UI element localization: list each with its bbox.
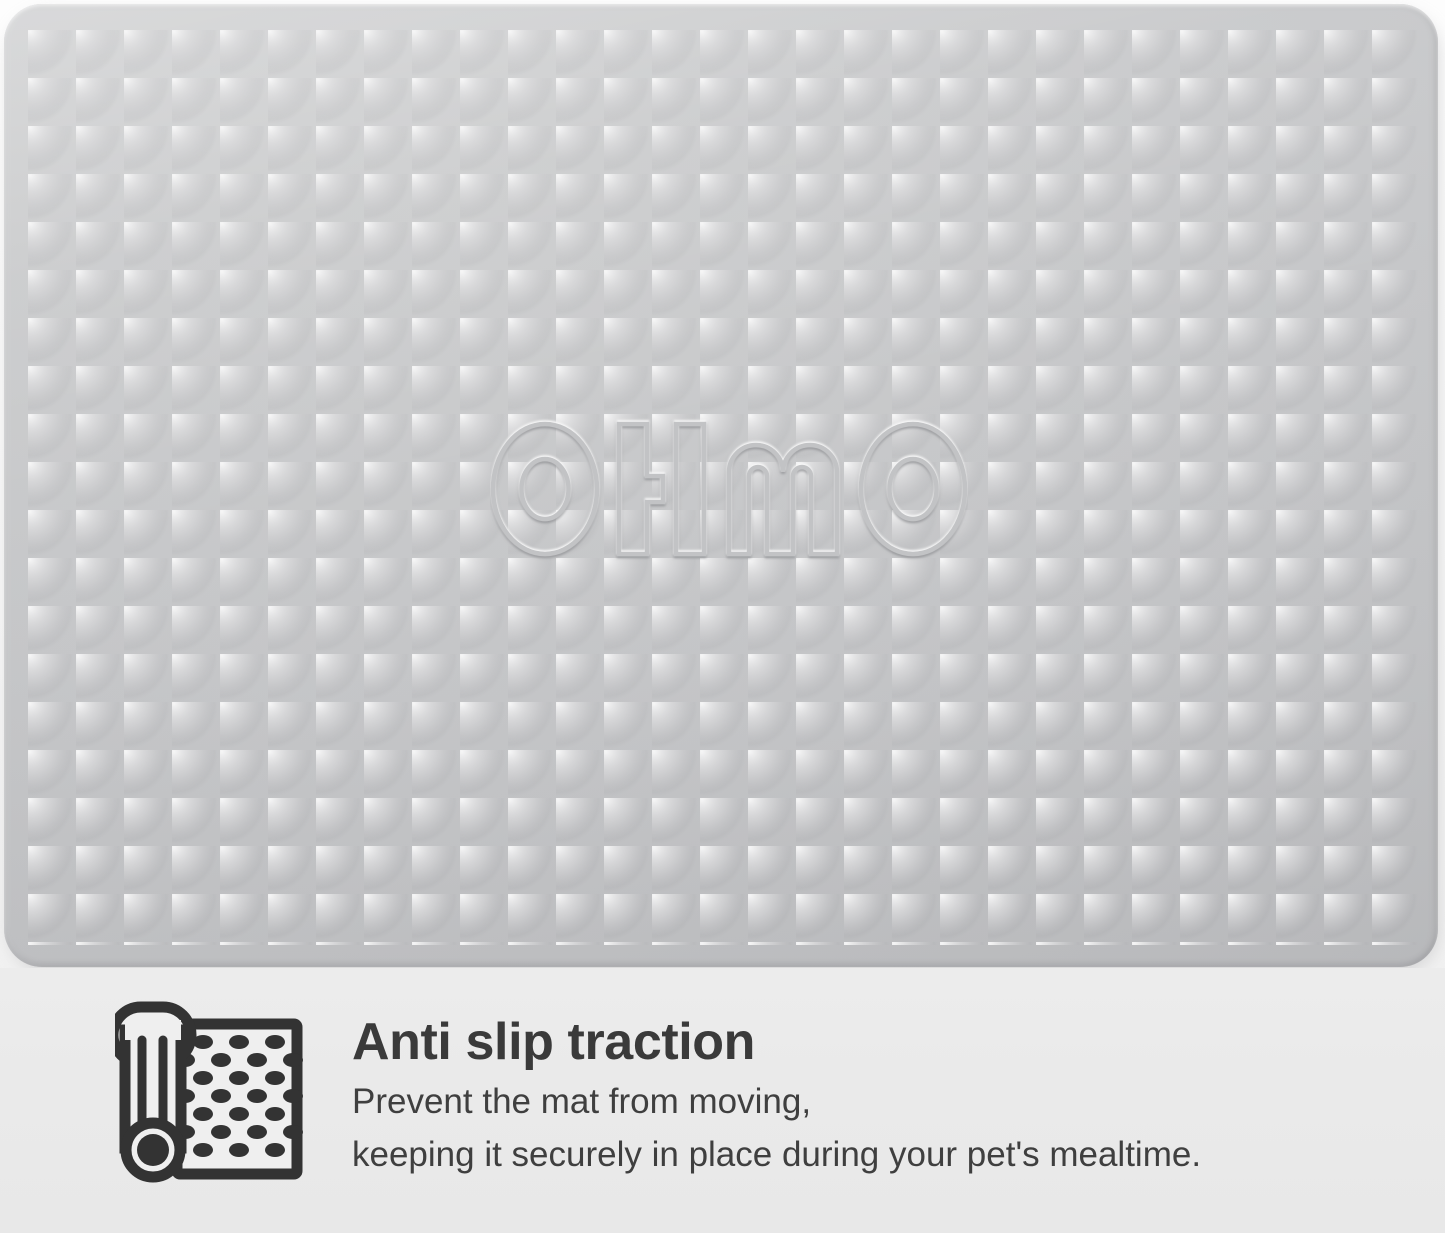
ohmo-brand-logo xyxy=(490,406,968,572)
product-photo-area xyxy=(0,0,1445,985)
feature-headline: Anti slip traction xyxy=(352,1012,1412,1072)
rolled-mat-with-dots-icon xyxy=(115,1000,305,1185)
feature-description-line-2: keeping it securely in place during your… xyxy=(352,1131,1412,1178)
feature-caption-text: Anti slip traction Prevent the mat from … xyxy=(352,1012,1412,1178)
anti-slip-dot-texture xyxy=(28,30,1418,945)
product-feature-image: Anti slip traction Prevent the mat from … xyxy=(0,0,1445,1233)
mat-surface-sheen xyxy=(4,4,1438,967)
silicone-pet-mat xyxy=(4,4,1438,967)
feature-description-line-1: Prevent the mat from moving, xyxy=(352,1078,1412,1125)
